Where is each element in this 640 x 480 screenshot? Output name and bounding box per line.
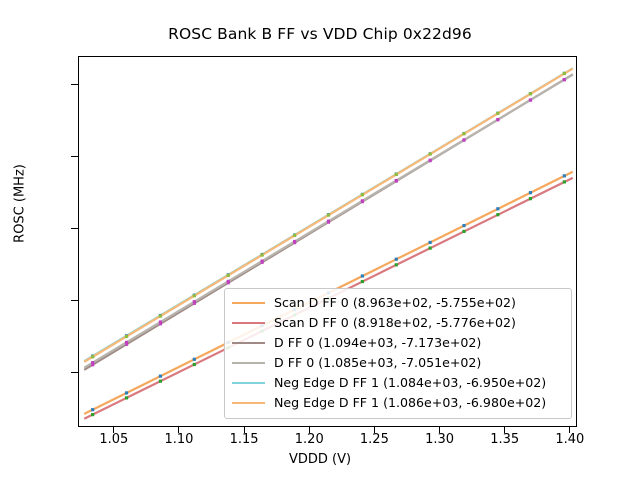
data-point bbox=[529, 191, 532, 194]
y-tick-mark bbox=[71, 228, 78, 229]
legend-line-icon bbox=[232, 342, 265, 344]
legend-label: Neg Edge D FF 1 (1.086e+03, -6.980e+02) bbox=[274, 397, 546, 410]
data-point bbox=[361, 280, 364, 283]
data-point bbox=[496, 213, 499, 216]
legend-label: Scan D FF 0 (8.918e+02, -5.776e+02) bbox=[274, 317, 516, 330]
y-axis-label: ROSC (MHz) bbox=[13, 139, 28, 269]
data-point bbox=[125, 396, 128, 399]
y-tick-mark bbox=[71, 84, 78, 85]
data-point bbox=[563, 180, 566, 183]
legend-item[interactable]: Scan D FF 0 (8.918e+02, -5.776e+02) bbox=[232, 313, 564, 333]
y-tick-mark bbox=[71, 156, 78, 157]
data-point bbox=[361, 199, 364, 202]
data-point bbox=[125, 391, 128, 394]
data-point bbox=[563, 78, 566, 81]
legend-item[interactable]: Neg Edge D FF 1 (1.086e+03, -6.980e+02) bbox=[232, 393, 564, 413]
x-tick-label: 1.25 bbox=[344, 432, 404, 447]
data-point bbox=[159, 375, 162, 378]
data-point bbox=[429, 152, 432, 155]
data-point bbox=[429, 247, 432, 250]
y-tick-mark bbox=[71, 300, 78, 301]
data-point bbox=[496, 112, 499, 115]
data-point bbox=[361, 193, 364, 196]
x-tick-label: 1.35 bbox=[475, 432, 535, 447]
data-point bbox=[496, 118, 499, 121]
data-point bbox=[496, 207, 499, 210]
data-point bbox=[462, 138, 465, 141]
figure-canvas: ROSC Bank B FF vs VDD Chip 0x22d96 40050… bbox=[0, 0, 640, 480]
x-tick-label: 1.20 bbox=[279, 432, 339, 447]
legend-item[interactable]: D FF 0 (1.094e+03, -7.173e+02) bbox=[232, 333, 564, 353]
data-point bbox=[429, 241, 432, 244]
data-point bbox=[327, 214, 330, 217]
legend-line-icon bbox=[232, 322, 265, 324]
legend-label: D FF 0 (1.085e+03, -7.051e+02) bbox=[274, 357, 481, 370]
legend-label: D FF 0 (1.094e+03, -7.173e+02) bbox=[274, 337, 481, 350]
data-point bbox=[91, 361, 94, 364]
data-point bbox=[395, 173, 398, 176]
data-point bbox=[91, 413, 94, 416]
x-tick-label: 1.40 bbox=[540, 432, 600, 447]
chart-title: ROSC Bank B FF vs VDD Chip 0x22d96 bbox=[0, 25, 640, 43]
data-point bbox=[159, 320, 162, 323]
legend-line-icon bbox=[232, 402, 265, 404]
data-point bbox=[193, 363, 196, 366]
data-point bbox=[91, 408, 94, 411]
data-point bbox=[293, 234, 296, 237]
legend-item[interactable]: D FF 0 (1.085e+03, -7.051e+02) bbox=[232, 353, 564, 373]
data-point bbox=[429, 159, 432, 162]
legend: Scan D FF 0 (8.963e+02, -5.755e+02)Scan … bbox=[224, 288, 572, 419]
data-point bbox=[293, 240, 296, 243]
x-tick-label: 1.10 bbox=[149, 432, 209, 447]
data-point bbox=[227, 274, 230, 277]
data-point bbox=[462, 132, 465, 135]
data-point bbox=[260, 253, 263, 256]
data-point bbox=[361, 274, 364, 277]
data-point bbox=[193, 300, 196, 303]
data-point bbox=[395, 179, 398, 182]
data-point bbox=[327, 220, 330, 223]
legend-item[interactable]: Scan D FF 0 (8.963e+02, -5.755e+02) bbox=[232, 293, 564, 313]
data-point bbox=[91, 355, 94, 358]
data-point bbox=[529, 98, 532, 101]
data-point bbox=[193, 294, 196, 297]
x-tick-label: 1.30 bbox=[410, 432, 470, 447]
x-tick-label: 1.15 bbox=[214, 432, 274, 447]
data-point bbox=[159, 315, 162, 318]
data-point bbox=[462, 224, 465, 227]
legend-label: Neg Edge D FF 1 (1.084e+03, -6.950e+02) bbox=[274, 377, 546, 390]
x-tick-label: 1.05 bbox=[84, 432, 144, 447]
x-axis-label: VDDD (V) bbox=[0, 452, 640, 467]
data-point bbox=[193, 358, 196, 361]
data-point bbox=[125, 335, 128, 338]
data-point bbox=[260, 259, 263, 262]
data-point bbox=[159, 380, 162, 383]
legend-line-icon bbox=[232, 382, 265, 384]
data-point bbox=[462, 230, 465, 233]
data-point bbox=[529, 92, 532, 95]
data-point bbox=[563, 72, 566, 75]
data-point bbox=[125, 341, 128, 344]
data-point bbox=[227, 280, 230, 283]
legend-label: Scan D FF 0 (8.963e+02, -5.755e+02) bbox=[274, 297, 516, 310]
legend-line-icon bbox=[232, 362, 265, 364]
data-point bbox=[395, 263, 398, 266]
data-point bbox=[395, 258, 398, 261]
legend-item[interactable]: Neg Edge D FF 1 (1.084e+03, -6.950e+02) bbox=[232, 373, 564, 393]
data-point bbox=[529, 197, 532, 200]
y-tick-mark bbox=[71, 372, 78, 373]
data-point bbox=[563, 174, 566, 177]
legend-line-icon bbox=[232, 302, 265, 304]
